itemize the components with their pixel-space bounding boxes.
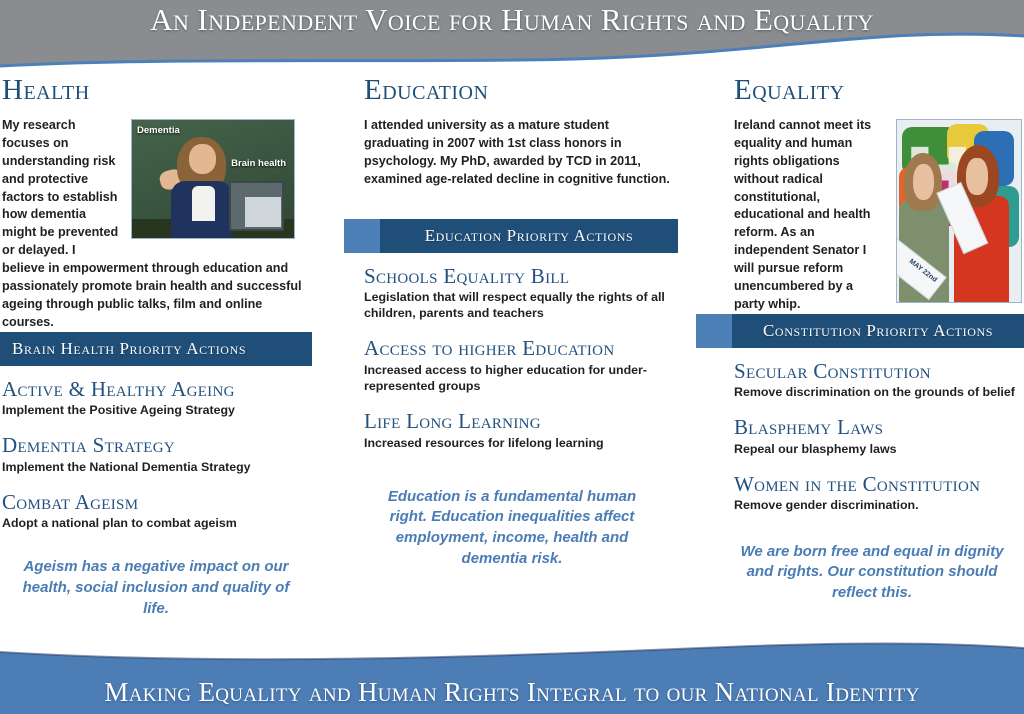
- action-desc: Remove discrimination on the grounds of …: [734, 384, 1024, 400]
- action-item: Secular Constitution Remove discriminati…: [734, 360, 1024, 401]
- banner-body: Constitution Priority Actions: [732, 314, 1024, 348]
- column-education: Education I attended university as a mat…: [330, 74, 680, 569]
- monitor-screen-shape: [245, 197, 281, 228]
- column-equality: Equality MAY 22nd: [696, 74, 1024, 604]
- column-health: Health Dementia Brain health My research…: [0, 74, 312, 619]
- quote-education: Education is a fundamental human right. …: [370, 487, 654, 570]
- quote-health: Ageism has a negative impact on our heal…: [18, 557, 294, 619]
- action-item: Life Long Learning Increased resources f…: [364, 410, 680, 451]
- banner-label: Brain Health Priority Actions: [12, 339, 246, 359]
- action-title: Life Long Learning: [364, 410, 680, 434]
- health-photo-label-dementia: Dementia: [137, 125, 180, 136]
- action-item: Active & Healthy Ageing Implement the Po…: [2, 378, 312, 419]
- action-desc: Implement the National Dementia Strategy: [2, 459, 312, 475]
- column-health-title: Health: [0, 74, 312, 107]
- banner-education-priority-actions: Education Priority Actions: [344, 219, 678, 253]
- column-education-title: Education: [330, 74, 680, 107]
- footer-title: Making Equality and Human Rights Integra…: [0, 677, 1024, 708]
- action-desc: Adopt a national plan to combat ageism: [2, 515, 312, 531]
- action-title: Combat Ageism: [2, 491, 312, 515]
- action-title: Blasphemy Laws: [734, 416, 1024, 440]
- banner-accent-bar: [696, 314, 732, 348]
- health-photo-label-brain-health: Brain health: [231, 158, 286, 169]
- banner-brain-health-priority-actions: Brain Health Priority Actions: [0, 332, 312, 366]
- action-title: Schools Equality Bill: [364, 265, 680, 289]
- action-desc: Remove gender discrimination.: [734, 497, 1024, 513]
- action-title: Secular Constitution: [734, 360, 1024, 384]
- column-education-intro: I attended university as a mature studen…: [330, 117, 680, 189]
- equality-photo: MAY 22nd: [896, 119, 1022, 303]
- action-title: Dementia Strategy: [2, 434, 312, 458]
- action-desc: Legislation that will respect equally th…: [364, 289, 680, 321]
- action-desc: Implement the Positive Ageing Strategy: [2, 402, 312, 418]
- action-item: Schools Equality Bill Legislation that w…: [364, 265, 680, 322]
- health-actions-list: Active & Healthy Ageing Implement the Po…: [0, 378, 312, 532]
- action-item: Blasphemy Laws Repeal our blasphemy laws: [734, 416, 1024, 457]
- action-item: Dementia Strategy Implement the National…: [2, 434, 312, 475]
- action-title: Women in the Constitution: [734, 473, 1024, 497]
- banner-body: Education Priority Actions: [380, 219, 678, 253]
- quote-equality: We are born free and equal in dignity an…: [730, 542, 1014, 604]
- column-equality-title: Equality: [696, 74, 1024, 107]
- education-actions-list: Schools Equality Bill Legislation that w…: [330, 265, 680, 451]
- banner-accent-bar: [344, 219, 380, 253]
- health-photo: Dementia Brain health: [131, 119, 295, 239]
- action-title: Access to higher Education: [364, 337, 680, 361]
- banner-label: Constitution Priority Actions: [763, 321, 993, 341]
- banner-constitution-priority-actions: Constitution Priority Actions: [696, 314, 1024, 348]
- equality-actions-list: Secular Constitution Remove discriminati…: [696, 360, 1024, 514]
- banner-label: Education Priority Actions: [425, 226, 634, 246]
- page-title: An Independent Voice for Human Rights an…: [0, 2, 1024, 38]
- speaker-face: [189, 144, 217, 175]
- action-item: Women in the Constitution Remove gender …: [734, 473, 1024, 514]
- action-title: Active & Healthy Ageing: [2, 378, 312, 402]
- action-item: Combat Ageism Adopt a national plan to c…: [2, 491, 312, 532]
- header-banner: An Independent Voice for Human Rights an…: [0, 0, 1024, 74]
- speaker-shirt: [192, 186, 215, 221]
- action-desc: Repeal our blasphemy laws: [734, 441, 1024, 457]
- action-item: Access to higher Education Increased acc…: [364, 337, 680, 394]
- action-desc: Increased access to higher education for…: [364, 362, 680, 394]
- banner-body: Brain Health Priority Actions: [0, 332, 312, 366]
- footer-banner: Making Equality and Human Rights Integra…: [0, 630, 1024, 714]
- columns-area: Health Dementia Brain health My research…: [0, 74, 1024, 630]
- person-left-face: [913, 164, 934, 200]
- action-desc: Increased resources for lifelong learnin…: [364, 435, 680, 451]
- poster-root: An Independent Voice for Human Rights an…: [0, 0, 1024, 714]
- person-right-face: [966, 158, 987, 194]
